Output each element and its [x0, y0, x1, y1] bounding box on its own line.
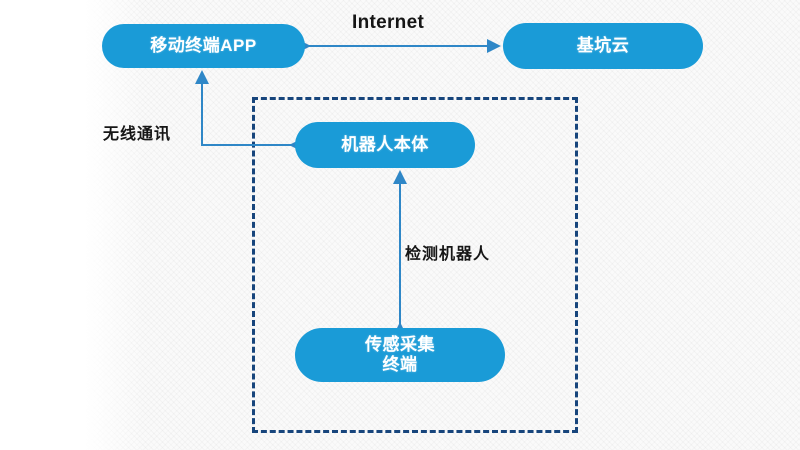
node-sensor-terminal-line2: 终端 [383, 355, 418, 374]
edge-label-internet: Internet [352, 12, 424, 34]
node-mobile-app[interactable]: 移动终端APP [102, 24, 305, 68]
node-sensor-terminal[interactable]: 传感采集 终端 [295, 328, 505, 382]
edge-label-wireless: 无线通讯 [103, 120, 171, 144]
wireless-connector-arrow [202, 72, 291, 145]
node-robot-body-label: 机器人本体 [341, 135, 429, 155]
edge-label-detection: 检测机器人 [405, 240, 490, 264]
diagram-canvas: 移动终端APP 基坑云 机器人本体 传感采集 终端 Internet 无线通讯 … [0, 0, 800, 450]
node-sensor-terminal-label: 传感采集 终端 [365, 335, 435, 375]
node-sensor-terminal-line1: 传感采集 [365, 335, 435, 354]
node-pit-cloud-label: 基坑云 [577, 36, 630, 56]
node-pit-cloud[interactable]: 基坑云 [503, 23, 703, 69]
node-robot-body[interactable]: 机器人本体 [295, 122, 475, 168]
node-mobile-app-label: 移动终端APP [150, 36, 256, 56]
